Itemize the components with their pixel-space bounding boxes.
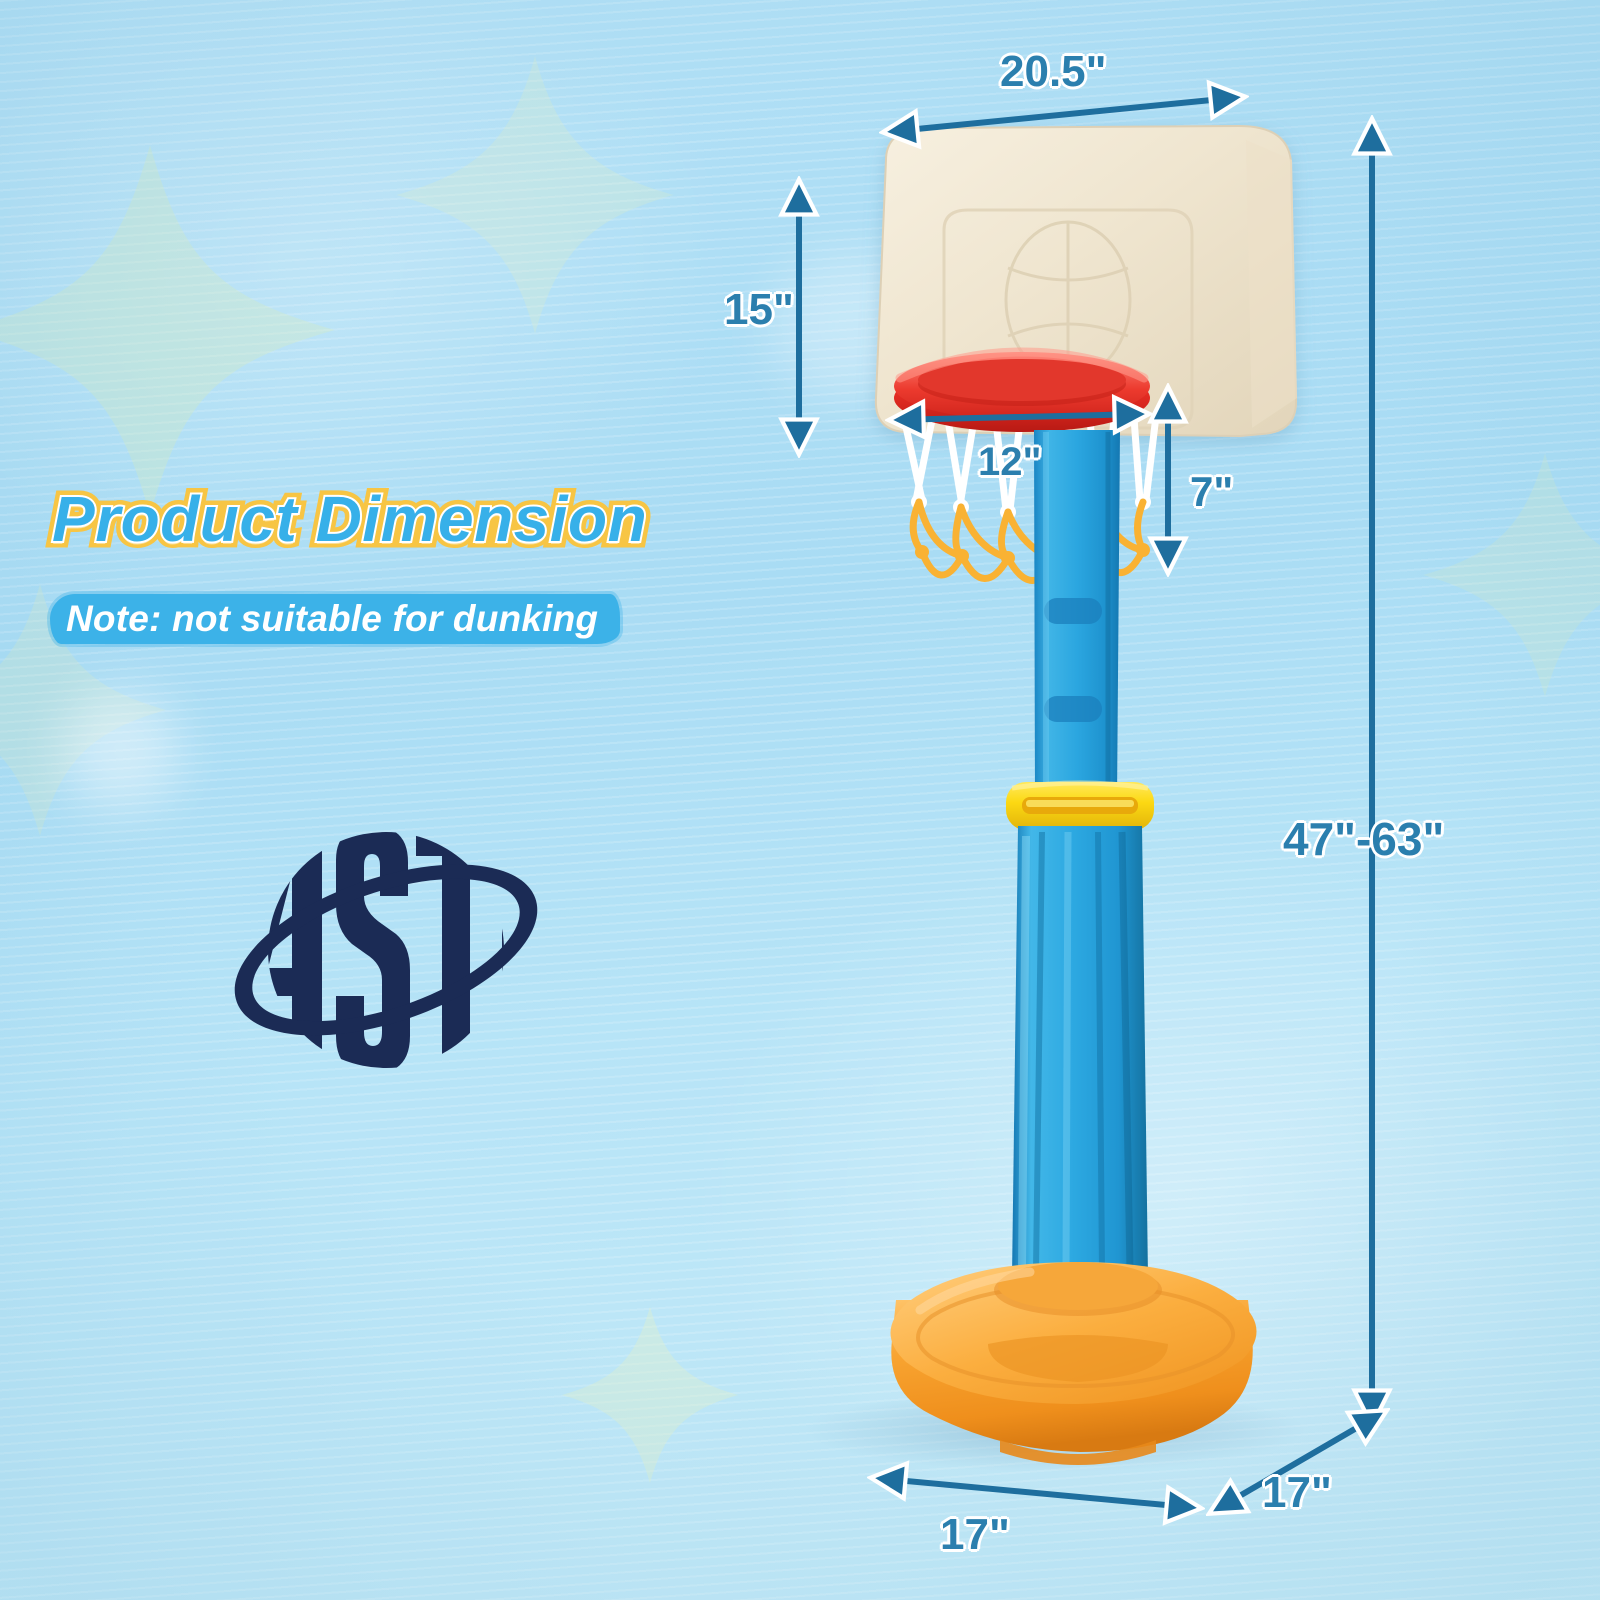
headline-block: Product Dimension Product Dimension — [52, 482, 812, 568]
astm-seal-icon — [196, 800, 576, 1100]
dimension-label-base-width: 17" — [940, 1510, 1010, 1560]
arrow-base-width — [874, 1478, 1198, 1508]
note-banner: Note: not suitable for dunking — [54, 590, 610, 648]
page-title: Product Dimension — [52, 482, 647, 556]
dimension-label-rim-diameter: 12" — [978, 440, 1041, 485]
dimension-label-backboard-width: 20.5" — [1000, 47, 1107, 97]
product-dimension-infographic: 20.5" 15" 12" 7" 47"-63" 17" 17" Product… — [0, 0, 1600, 1600]
arrow-rim-diameter — [892, 414, 1146, 420]
dimension-label-base-depth: 17" — [1262, 1468, 1332, 1518]
dimension-label-total-height: 47"-63" — [1283, 812, 1444, 866]
note-text: Note: not suitable for dunking — [54, 590, 610, 648]
dimension-label-backboard-height: 15" — [724, 285, 794, 335]
dimension-label-rim-drop: 7" — [1190, 468, 1233, 516]
arrow-backboard-width — [886, 97, 1242, 132]
